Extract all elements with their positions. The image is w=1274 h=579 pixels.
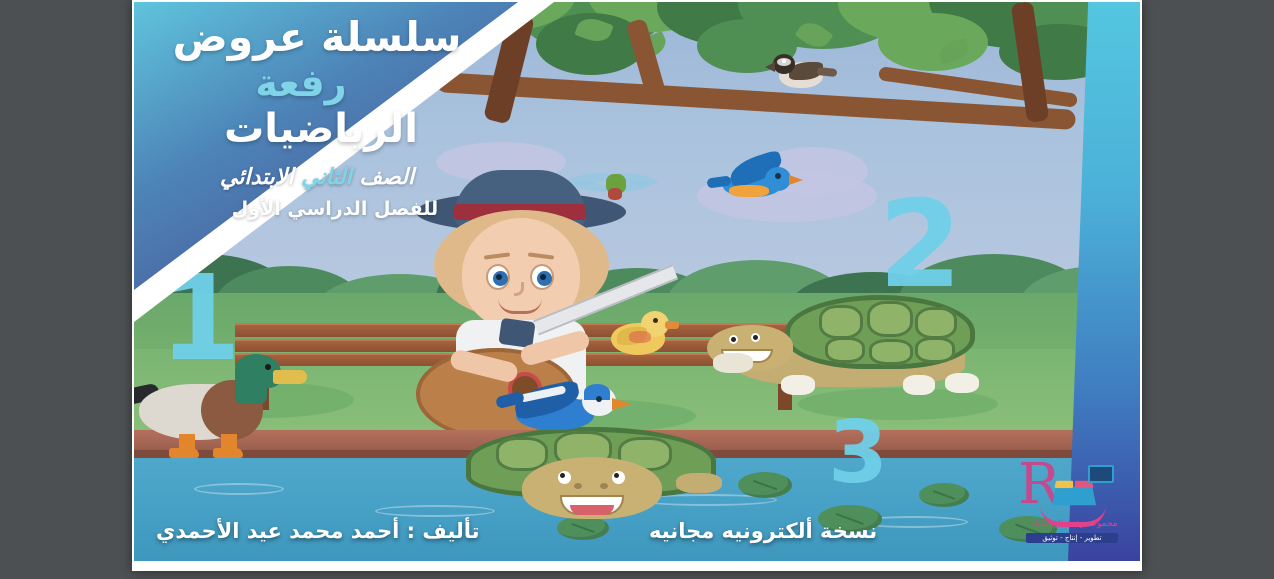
publisher-logo[interactable]: R مجموعة رفعة الرياضيات تطوير - إنتاج - … (1012, 455, 1132, 547)
blue-bird-flying (707, 159, 803, 203)
logo-tagline-badge: تطوير - إنتاج - توثيق (1026, 533, 1118, 543)
grade-highlight: الثاني (301, 165, 352, 190)
title-line-brand: رفعة (152, 63, 450, 105)
author-caption: تأليف : أحمد محمد عيد الأحمدي (156, 519, 480, 543)
title-line-series: سلسلة عروض (152, 14, 482, 61)
title-block: سلسلة عروض رفعة الرياضيات الصف الثاني ال… (134, 2, 494, 290)
lily-pad (738, 472, 792, 498)
kingfisher-bird (506, 382, 636, 438)
laptop-icon (1088, 465, 1114, 483)
document-viewer[interactable]: 1 2 3 سلسلة عروض رفعة الرياضيات الصف الث… (0, 0, 1274, 579)
grade-prefix: الصف (352, 165, 414, 190)
cover-artwork: 1 2 3 سلسلة عروض رفعة الرياضيات الصف الث… (134, 2, 1140, 561)
walking-turtle (707, 287, 1007, 407)
big-number-two: 2 (878, 186, 962, 306)
title-line-subject: الرياضيات (152, 107, 490, 151)
grade-suffix: الابتدائي (220, 165, 301, 190)
lily-pad (919, 483, 969, 507)
sparrow-bird (773, 52, 833, 92)
open-book-icon (1052, 487, 1096, 506)
duckling (607, 309, 673, 357)
logo-name-text: مجموعة رفعة الرياضيات (1012, 519, 1132, 529)
term-line: للفصل الدراسي الأول (152, 198, 518, 220)
grade-line: الصف الثاني الابتدائي (152, 165, 482, 190)
free-copy-caption: نسخة ألكترونيه مجانيه (649, 519, 877, 543)
big-number-three: 3 (828, 410, 888, 496)
book-cover-page[interactable]: 1 2 3 سلسلة عروض رفعة الرياضيات الصف الث… (132, 0, 1142, 571)
